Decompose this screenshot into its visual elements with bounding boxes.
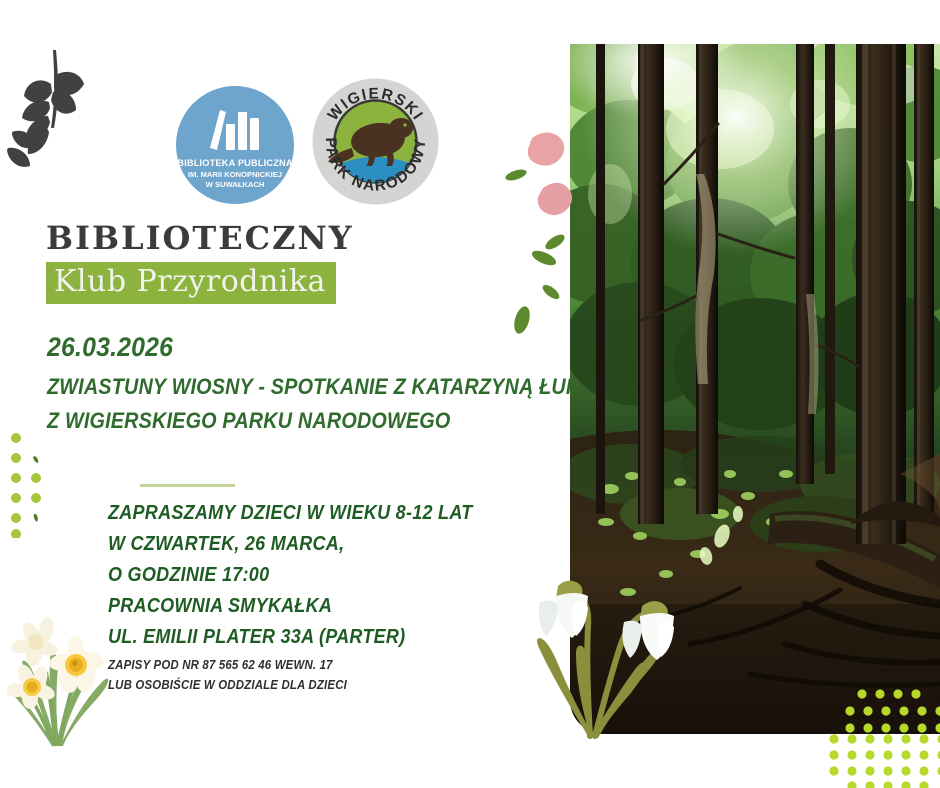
snowdrop-flowers xyxy=(500,548,690,743)
daffodil-flowers xyxy=(2,608,110,748)
details-line-1: ZAPRASZAMY DZIECI W WIEKU 8-12 LAT xyxy=(108,498,531,529)
details-line-4: PRACOWNIA SMYKAŁKA xyxy=(108,591,531,622)
poster-canvas: BIBLIOTEKA PUBLICZNA IM. MARII KONOPNICK… xyxy=(0,0,940,788)
event-headline: ZWIASTUNY WIOSNY - SPOTKANIE Z KATARZYNĄ… xyxy=(47,370,607,438)
title-highlight-wrap: Klub Przyrodnika xyxy=(46,262,336,304)
note-line-1: ZAPISY POD NR 87 565 62 46 WEWN. 17 xyxy=(108,655,495,675)
title-line-klub-przyrodnika: Klub Przyrodnika xyxy=(46,262,336,304)
title-line-biblioteczny: BIBLIOTECZNY xyxy=(46,222,516,254)
pink-petal-icon xyxy=(528,132,572,215)
floating-petals-and-leaves xyxy=(498,120,608,370)
wigierski-park-narodowy-logo: WIGIERSKI PARK NARODOWY xyxy=(312,78,439,205)
green-dot-grid-left xyxy=(2,428,54,538)
section-divider xyxy=(140,484,235,487)
logo-row: BIBLIOTEKA PUBLICZNA IM. MARII KONOPNICK… xyxy=(176,78,466,203)
details-line-2: W CZWARTEK, 26 MARCA, xyxy=(108,529,531,560)
page-title: BIBLIOTECZNY Klub Przyrodnika xyxy=(46,222,516,304)
biblioteka-publiczna-logo: BIBLIOTEKA PUBLICZNA IM. MARII KONOPNICK… xyxy=(176,86,294,204)
event-date: 26.03.2026 xyxy=(47,332,173,363)
details-line-3: O GODZINIE 17:00 xyxy=(108,560,531,591)
details-line-5: UL. EMILII PLATER 33A (PARTER) xyxy=(108,622,531,653)
registration-note: ZAPISY POD NR 87 565 62 46 WEWN. 17 LUB … xyxy=(108,655,548,695)
library-logo-line3: W SUWAŁKACH xyxy=(206,180,265,189)
headline-line-2: Z WIGIERSKIEGO PARKU NARODOWEGO xyxy=(47,404,551,438)
green-dot-grid-corner xyxy=(828,686,940,788)
headline-line-1: ZWIASTUNY WIOSNY - SPOTKANIE Z KATARZYNĄ… xyxy=(47,370,551,404)
library-logo-line1: BIBLIOTEKA PUBLICZNA xyxy=(177,158,293,168)
leaf-branch-sprig xyxy=(4,42,109,170)
library-logo-line2: IM. MARII KONOPNICKIEJ xyxy=(188,170,282,179)
note-line-2: LUB OSOBIŚCIE W ODDZIALE DLA DZIECI xyxy=(108,675,495,695)
